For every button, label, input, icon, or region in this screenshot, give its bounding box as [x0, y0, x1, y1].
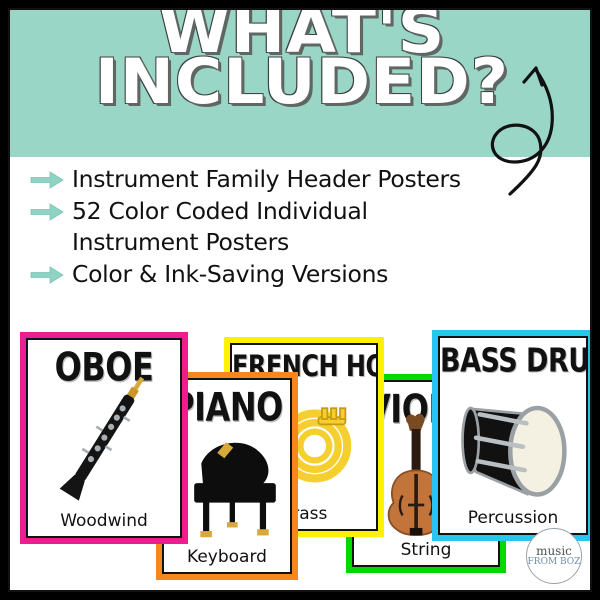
poster-card-family: Keyboard	[164, 547, 290, 567]
poster-inner-frame: WHAT'S INCLUDED? Instrument Family Heade…	[8, 8, 592, 592]
brand-logo: music FROM BOZ	[526, 528, 582, 584]
poster-card-family: String	[354, 540, 498, 560]
brand-logo-line2: FROM BOZ	[528, 557, 581, 568]
poster-card-inner: BASS DRUM Percussion	[438, 336, 588, 535]
oboe-icon	[28, 340, 180, 536]
poster-root: WHAT'S INCLUDED? Instrument Family Heade…	[0, 0, 600, 600]
poster-card-family: Woodwind	[28, 511, 180, 531]
brand-logo-line1: music	[536, 545, 572, 557]
poster-card-stack: PIANO Keyboard	[10, 10, 592, 592]
poster-card-bass-drum[interactable]: BASS DRUM Percussion	[432, 330, 592, 541]
poster-card-oboe[interactable]: OBOE	[20, 332, 188, 544]
poster-card-inner: OBOE	[26, 338, 182, 538]
poster-card-family: Percussion	[440, 508, 586, 528]
bass-drum-icon	[440, 338, 586, 533]
